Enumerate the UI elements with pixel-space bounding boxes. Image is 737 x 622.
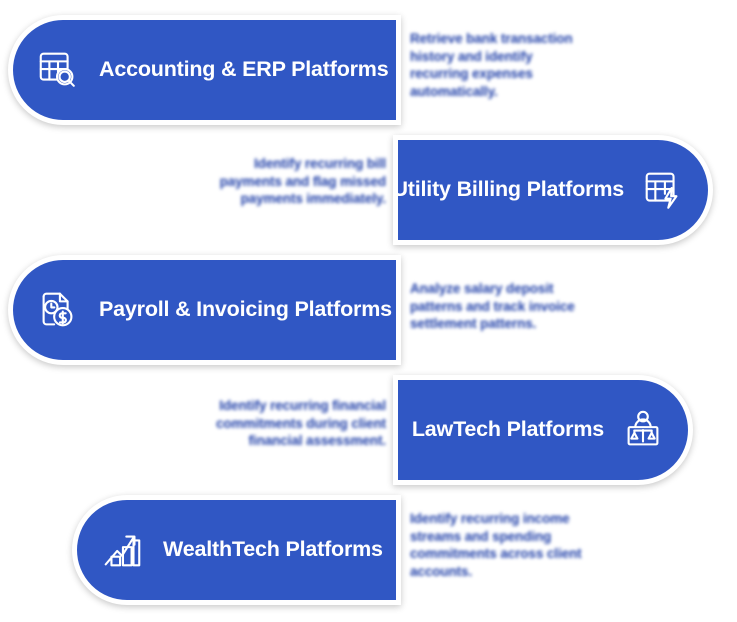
category-description: Identify recurring income streams and sp… bbox=[410, 510, 615, 580]
diagram-canvas: Accounting & ERP Platforms Retrieve bank… bbox=[0, 0, 737, 622]
category-pill-accounting-erp-platforms[interactable]: Accounting & ERP Platforms bbox=[8, 15, 401, 125]
category-pill-payroll-invoicing-platforms[interactable]: Payroll & Invoicing Platforms bbox=[8, 255, 401, 365]
spreadsheet-search-icon bbox=[35, 47, 81, 93]
category-description: Retrieve bank transaction history and id… bbox=[410, 30, 575, 100]
category-pill-wealthtech-platforms[interactable]: WealthTech Platforms bbox=[72, 495, 401, 605]
category-label: WealthTech Platforms bbox=[163, 538, 383, 562]
diagram-row: Identify recurring bill payments and fla… bbox=[0, 135, 737, 245]
diagram-row: Accounting & ERP Platforms Retrieve bank… bbox=[0, 15, 737, 125]
spreadsheet-bolt-icon bbox=[640, 167, 686, 213]
bar-chart-growth-icon bbox=[99, 527, 145, 573]
category-pill-utility-billing-platforms[interactable]: Utility Billing Platforms bbox=[393, 135, 713, 245]
category-pill-lawtech-platforms[interactable]: LawTech Platforms bbox=[393, 375, 693, 485]
justice-scales-person-icon bbox=[620, 407, 666, 453]
diagram-row: Payroll & Invoicing Platforms Analyze sa… bbox=[0, 255, 737, 365]
document-clock-dollar-icon bbox=[35, 287, 81, 333]
diagram-row: WealthTech Platforms Identify recurring … bbox=[0, 495, 737, 605]
category-label: Accounting & ERP Platforms bbox=[99, 58, 388, 82]
category-description: Analyze salary deposit patterns and trac… bbox=[410, 280, 606, 333]
category-label: LawTech Platforms bbox=[412, 418, 604, 442]
category-label: Payroll & Invoicing Platforms bbox=[99, 298, 392, 322]
category-description: Identify recurring financial commitments… bbox=[180, 397, 386, 450]
category-label: Utility Billing Platforms bbox=[392, 178, 624, 202]
category-description: Identify recurring bill payments and fla… bbox=[196, 155, 386, 208]
diagram-row: Identify recurring financial commitments… bbox=[0, 375, 737, 485]
